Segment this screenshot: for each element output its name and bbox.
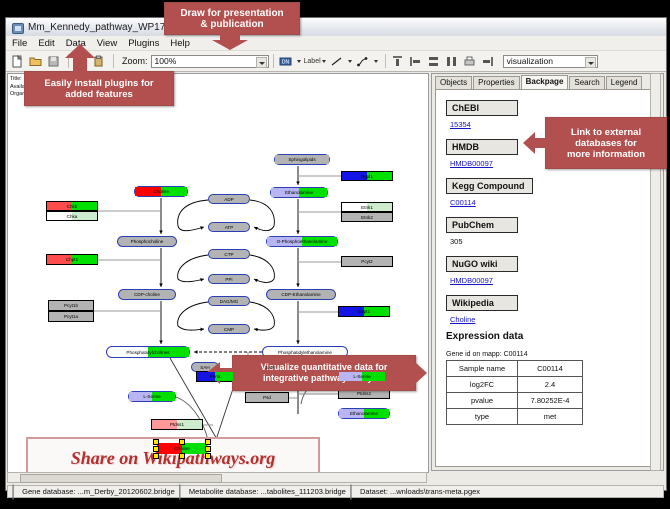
node-label: Chpt1 <box>66 257 78 262</box>
node-pcyt2[interactable]: Pcyt2 <box>341 256 393 267</box>
cell-value: 2.4 <box>518 377 583 393</box>
node-label: Ethanolamine <box>350 411 378 416</box>
chevron-down-icon[interactable] <box>256 57 267 68</box>
tab-objects[interactable]: Objects <box>435 76 472 89</box>
zoom-value: 100% <box>155 56 177 66</box>
table-row: log2FC 2.4 <box>447 377 583 393</box>
db-name-pubchem: PubChem <box>446 217 518 233</box>
open-folder-icon[interactable] <box>28 54 43 69</box>
node-pcyt1b[interactable]: Pcyt1b <box>48 300 94 311</box>
status-divider: | <box>178 483 182 501</box>
callout-draw: Draw for presentation & publication <box>164 2 300 35</box>
menu-bar: File Edit Data View Plugins Help <box>6 36 666 51</box>
node-phosphocholine[interactable]: Phosphocholine <box>117 236 177 247</box>
callout-draw-line2: & publication <box>200 19 263 30</box>
callout-links-line3: more information <box>567 149 645 160</box>
cell-label: Sample name <box>447 361 518 377</box>
node-label: Pemt <box>210 374 221 379</box>
chevron-down-icon-label[interactable] <box>322 60 326 63</box>
scrollbar-thumb[interactable] <box>20 474 222 483</box>
node-chka[interactable]: Chka <box>46 211 98 221</box>
node-label: Ptdss1 <box>170 422 184 427</box>
shape-tool-icon[interactable] <box>355 54 370 69</box>
menu-file[interactable]: File <box>10 38 29 49</box>
node-cmp[interactable]: CMP <box>208 324 250 334</box>
node-chpt1[interactable]: Chpt1 <box>46 254 98 265</box>
chevron-down-icon-line[interactable] <box>348 60 352 63</box>
node-label: Sphingolipids <box>288 157 315 162</box>
cell-value: 7.80252E-4 <box>518 393 583 409</box>
node-phosphatidylcholines[interactable]: Phosphatidylcholines <box>106 346 190 358</box>
callout-visualize-arrow-right-icon <box>411 362 427 384</box>
node-atp[interactable]: ATP <box>208 222 250 232</box>
node-label: Choline <box>174 446 190 451</box>
node-label: Etnk2 <box>361 215 373 220</box>
tab-backpage[interactable]: Backpage <box>521 75 569 89</box>
node-label: ATP <box>225 225 234 230</box>
node-label: SAM <box>265 365 275 370</box>
node-ctp[interactable]: CTP <box>208 249 250 259</box>
node-label: Sgpl1 <box>361 174 373 179</box>
node-chkb[interactable]: Chkb <box>46 201 98 211</box>
node-label: Choline <box>153 189 169 194</box>
node-etnk2[interactable]: Etnk2 <box>341 212 393 222</box>
menu-help[interactable]: Help <box>168 38 192 49</box>
title-bar: Mm_Kennedy_pathway_WP1771_45176.gpml <box>6 18 666 37</box>
menu-plugins[interactable]: Plugins <box>126 38 161 49</box>
tab-legend[interactable]: Legend <box>606 76 643 89</box>
align-right-icon[interactable] <box>480 54 495 69</box>
toolbar: Zoom: 100% DN Label <box>6 51 666 72</box>
db-link-nugo[interactable]: HMDB00097 <box>450 276 658 285</box>
status-divider: | <box>349 483 353 501</box>
align-top-icon[interactable] <box>390 54 405 69</box>
node-label: Ethanolamine <box>285 190 313 195</box>
callout-draw-arrow-icon <box>212 32 248 50</box>
cell-label: pvalue <box>447 393 518 409</box>
selection-handle-nw[interactable] <box>153 439 159 445</box>
callout-draw-line1: Draw for presentation <box>180 8 283 19</box>
node-l-serine-right[interactable]: L-Serine <box>338 371 386 382</box>
node-label: CMP <box>224 327 234 332</box>
callout-links-arrow-icon <box>523 132 547 154</box>
node-ethanolamine-top[interactable]: Ethanolamine <box>270 187 328 198</box>
callout-links-line1: Link to external <box>571 127 641 138</box>
pathway-canvas[interactable]: Title: Availa Organi <box>7 73 429 473</box>
node-label: L-Serine <box>143 394 160 399</box>
screenshot-root: Mm_Kennedy_pathway_WP1771_45176.gpml Fil… <box>0 0 670 509</box>
cell-label: type <box>447 409 518 425</box>
node-label: Etnk1 <box>361 205 373 210</box>
node-label: SAH <box>200 365 209 370</box>
db-name-chebi: ChEBI <box>446 100 518 116</box>
canvas-horizontal-scrollbar[interactable] <box>7 472 427 483</box>
selection-handle-se[interactable] <box>205 453 211 459</box>
selection-handle-sw[interactable] <box>153 453 159 459</box>
db-name-nugo: NuGO wiki <box>446 256 518 272</box>
align-width-icon[interactable] <box>444 54 459 69</box>
chevron-down-icon-visualization[interactable] <box>585 57 596 68</box>
selection-handle-w[interactable] <box>153 446 159 452</box>
status-dataset: Dataset: ...wnloads\trans-meta.pgex <box>356 487 480 496</box>
node-label: Psd <box>263 395 271 400</box>
node-choline-top[interactable]: Choline <box>134 186 188 197</box>
toolbar-separator-2 <box>113 54 114 68</box>
table-row: Sample name C00114 <box>447 361 583 377</box>
toolbar-separator-3 <box>273 54 274 68</box>
zoom-label: Zoom: <box>122 56 148 66</box>
selection-handle-ne[interactable] <box>205 439 211 445</box>
db-block-wikipedia: Wikipedia Choline <box>446 293 658 324</box>
node-label: Ptdss2 <box>357 391 371 396</box>
node-dag-mg[interactable]: DAG/MG <box>208 296 250 306</box>
new-file-icon[interactable] <box>10 54 25 69</box>
db-block-pubchem: PubChem 305 <box>446 215 658 246</box>
callout-visualize: Visualize quantitative data for integrat… <box>232 355 416 391</box>
node-label: Phosphocholine <box>131 239 164 244</box>
node-label: DAG/MG <box>220 299 239 304</box>
status-gene-database: Gene database: ...m_Derby_20120602.bridg… <box>18 487 175 496</box>
align-left-icon[interactable] <box>408 54 423 69</box>
callout-plugins-line1: Easily install plugins for <box>44 78 153 89</box>
visualization-combo[interactable]: visualization <box>503 55 598 68</box>
expression-table: Sample name C00114 log2FC 2.4 pvalue 7.8… <box>446 360 583 425</box>
svg-text:DN: DN <box>281 59 289 65</box>
node-sgpl1[interactable]: Sgpl1 <box>341 171 393 181</box>
visualization-value: visualization <box>507 56 553 66</box>
node-label: PPi <box>225 277 232 282</box>
db-block-kegg: Kegg Compound C00114 <box>446 176 658 207</box>
db-name-kegg: Kegg Compound <box>446 178 533 194</box>
node-label: Cept1 <box>358 309 370 314</box>
label-tool-label[interactable]: Label <box>304 58 321 65</box>
node-cdp-choline[interactable]: CDP-choline <box>118 289 176 300</box>
tab-search[interactable]: Search <box>569 76 604 89</box>
pathvisio-icon <box>11 21 24 34</box>
selection-handle-e[interactable] <box>205 446 211 452</box>
node-cdp-ethanolamine[interactable]: CDP-Ethanolamine <box>266 289 336 300</box>
callout-plugins-arrow-icon <box>65 44 95 72</box>
node-ppi[interactable]: PPi <box>208 274 250 284</box>
db-value-pubchem: 305 <box>450 237 658 246</box>
db-block-nugo: NuGO wiki HMDB00097 <box>446 254 658 285</box>
node-adp[interactable]: ADP <box>208 194 250 204</box>
node-label: Chka <box>67 214 78 219</box>
chevron-down-icon-shape[interactable] <box>374 60 378 63</box>
status-metabolite-database: Metabolite database: ...tabolites_111203… <box>185 487 346 496</box>
node-ptdss1[interactable]: Ptdss1 <box>151 419 203 430</box>
node-label: ADP <box>224 197 233 202</box>
status-bar: | Gene database: ...m_Derby_20120602.bri… <box>7 485 664 498</box>
node-label: CDP-choline <box>134 292 160 297</box>
menu-edit[interactable]: Edit <box>36 38 56 49</box>
callout-links: Link to external databases for more info… <box>545 117 667 169</box>
node-o-phosphoethanolamine[interactable]: O-Phosphoethanolamine <box>266 236 338 247</box>
selection-handle-n[interactable] <box>179 439 185 445</box>
gene-id-line: Gene id on mapp: C00114 <box>446 351 658 358</box>
selection-handle-s[interactable] <box>179 453 185 459</box>
node-etnk1[interactable]: Etnk1 <box>341 202 393 212</box>
save-icon[interactable] <box>46 54 61 69</box>
db-name-hmdb: HMDB <box>446 139 518 155</box>
node-psd[interactable]: Psd <box>245 392 289 403</box>
table-row: pvalue 7.80252E-4 <box>447 393 583 409</box>
toolbar-separator-4 <box>385 54 386 68</box>
node-pcyt1a[interactable]: Pcyt1a <box>48 311 94 322</box>
node-label: Pcyt2 <box>361 259 373 264</box>
datanode-tool-icon[interactable]: DN <box>278 54 293 69</box>
cell-label: log2FC <box>447 377 518 393</box>
tab-properties[interactable]: Properties <box>473 76 519 89</box>
node-pemt[interactable]: Pemt <box>196 371 234 382</box>
node-label: Phosphatidylethanolamine <box>278 350 332 355</box>
node-ethanolamine-bottom[interactable]: Ethanolamine <box>338 408 390 419</box>
zoom-combo[interactable]: 100% <box>151 55 269 68</box>
side-panel-tabs: Objects Properties Backpage Search Legen… <box>435 76 643 89</box>
callout-plugins-line2: added features <box>65 89 133 100</box>
menu-view[interactable]: View <box>95 38 119 49</box>
db-name-wikipedia: Wikipedia <box>446 295 518 311</box>
node-cept1[interactable]: Cept1 <box>338 306 390 317</box>
expression-data-heading: Expression data <box>446 331 658 342</box>
node-label: O-Phosphoethanolamine <box>277 239 328 244</box>
cell-value: C00114 <box>518 361 583 377</box>
callout-plugins: Easily install plugins for added feature… <box>24 71 174 106</box>
node-label: Pcyt1a <box>64 314 78 319</box>
node-sphingolipids[interactable]: Sphingolipids <box>274 154 330 165</box>
print-icon[interactable] <box>462 54 477 69</box>
chevron-down-icon-datanode[interactable] <box>297 60 301 63</box>
node-label: L-Serine <box>353 374 370 379</box>
db-link-wikipedia[interactable]: Choline <box>450 315 658 324</box>
node-label: Phosphatidylcholines <box>126 350 169 355</box>
table-row: type met <box>447 409 583 425</box>
node-label: CTP <box>224 252 233 257</box>
cell-value: met <box>518 409 583 425</box>
node-l-serine-left[interactable]: L-Serine <box>128 391 176 402</box>
node-label: CDP-Ethanolamine <box>281 292 320 297</box>
node-label: Pcyt1b <box>64 303 78 308</box>
align-height-icon[interactable] <box>426 54 441 69</box>
callout-links-line2: databases for <box>575 138 637 149</box>
db-link-kegg[interactable]: C00114 <box>450 198 658 207</box>
node-label: Chkb <box>67 204 78 209</box>
status-divider: | <box>11 483 15 501</box>
line-tool-icon[interactable] <box>329 54 344 69</box>
